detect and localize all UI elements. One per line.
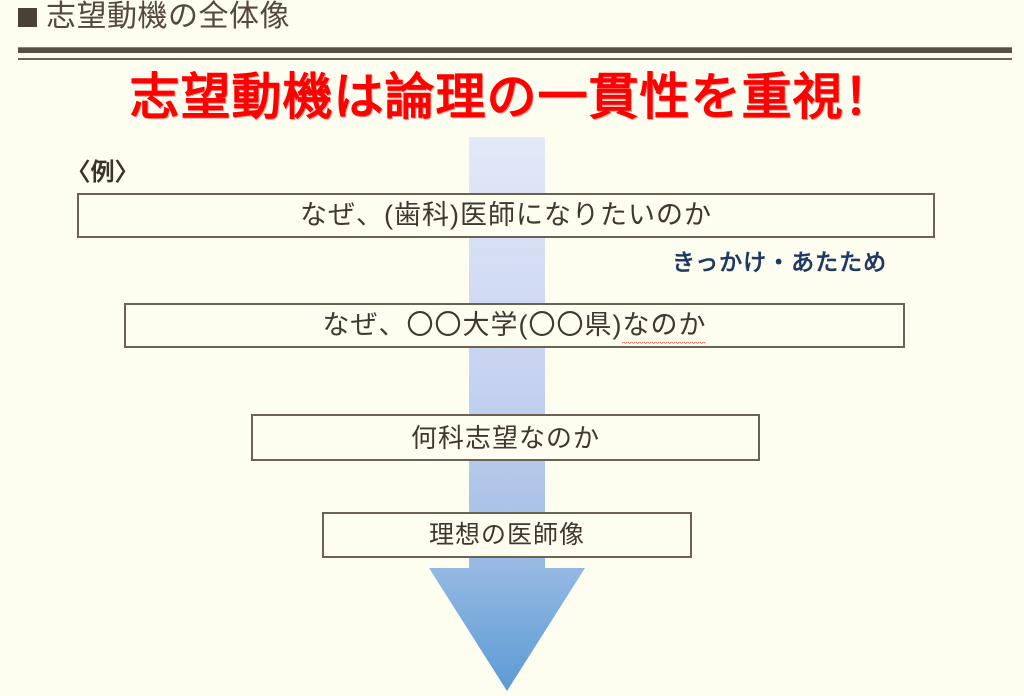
flow-box-1-label: なぜ、(歯科)医師になりたいのか [300,202,712,229]
flow-box-1: なぜ、(歯科)医師になりたいのか [77,193,935,238]
flow-box-3: 何科志望なのか [251,414,760,461]
flow-box-2: なぜ、〇〇大学(〇〇県)なのか [124,303,905,348]
flow-box-3-label: 何科志望なのか [411,425,600,451]
example-label: 〈例〉 [66,152,140,187]
flow-box-2-label: なぜ、〇〇大学(〇〇県) [323,312,623,339]
annotation-text: きっかけ・あたため [672,243,887,277]
flow-box-2-label-misspelled: なのか [622,312,706,339]
flow-box-4: 理想の医師像 [322,512,692,558]
slide-canvas: 志望動機の全体像 志望動機は論理の一貫性を重視！ 〈例〉 なぜ、(歯科)医師にな… [0,0,1024,691]
flow-content: 〈例〉 なぜ、(歯科)医師になりたいのか なぜ、〇〇大学(〇〇県)なのか 何科志… [0,0,1024,691]
flow-box-4-label: 理想の医師像 [429,523,585,548]
